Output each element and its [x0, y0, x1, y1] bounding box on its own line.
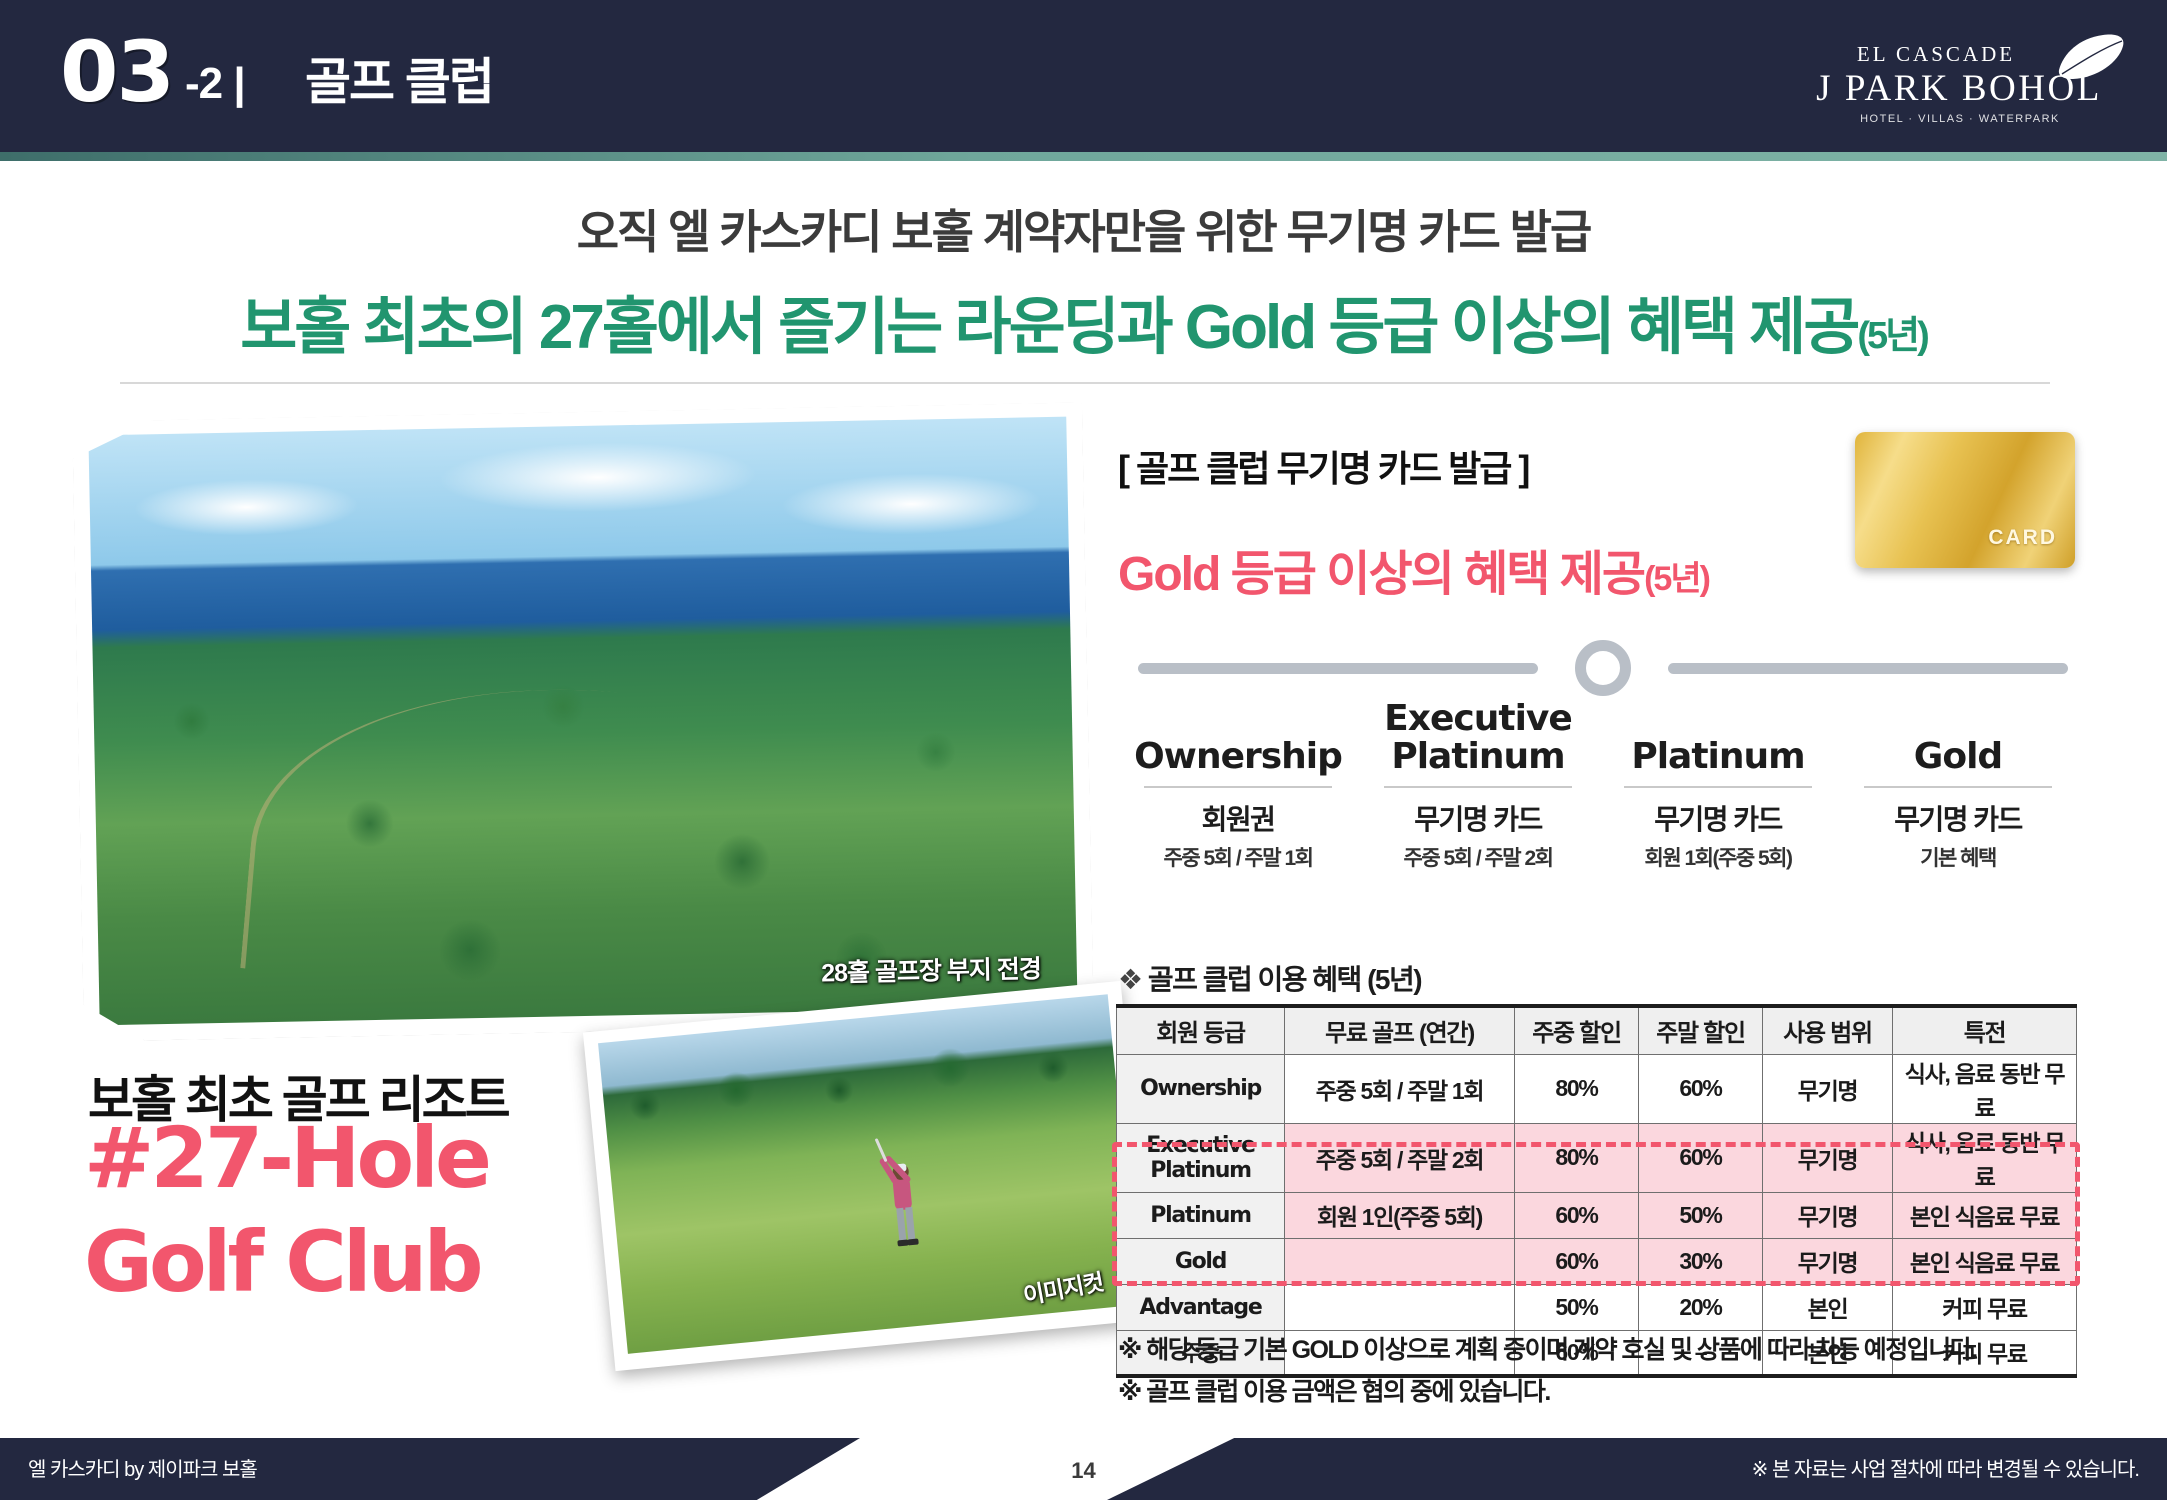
- table-cell-tier: Gold: [1117, 1238, 1285, 1284]
- tier-name: ExecutivePlatinum: [1358, 700, 1598, 776]
- column-header: 사용 범위: [1763, 1006, 1893, 1054]
- tier-item: Gold 무기명 카드 기본 혜택: [1838, 738, 2078, 872]
- table-cell-scope: 무기명: [1763, 1192, 1893, 1238]
- leaf-mark-icon: [2053, 32, 2127, 82]
- tier-detail: 주중 5회 / 주말 2회: [1358, 842, 1598, 872]
- table-cell-weekend-discount: 60%: [1639, 1123, 1763, 1192]
- photo-treeline: [600, 1019, 1116, 1136]
- logo-tagline: HOTEL · VILLAS · WATERPARK: [1801, 114, 2131, 125]
- benefit-table-heading-text: 골프 클럽 이용 혜택 (5년): [1148, 964, 1421, 995]
- gold-benefit-headline: Gold 등급 이상의 혜택 제공(5년): [1118, 534, 1709, 604]
- table-cell-weekday-discount: 50%: [1515, 1284, 1639, 1330]
- divider-rule: [120, 382, 2050, 384]
- header-accent-bar: [0, 152, 2167, 161]
- table-cell-tier: Platinum: [1117, 1192, 1285, 1238]
- tier-item: Ownership 회원권 주중 5회 / 주말 1회: [1118, 738, 1358, 872]
- gold-benefit-main: Gold 등급 이상의 혜택 제공: [1118, 548, 1644, 601]
- table-cell-weekend-discount: 30%: [1639, 1238, 1763, 1284]
- headline-secondary-years: (5년): [1857, 315, 1926, 357]
- tier-divider-right-bar: [1668, 663, 2068, 674]
- footnote-1: ※ 해당 등급 기본 GOLD 이상으로 계획 중이며 계약 호실 및 상품에 …: [1118, 1330, 1977, 1366]
- gold-benefit-years: (5년): [1644, 560, 1709, 598]
- tier-divider: [1138, 640, 2068, 696]
- header-section-sub: -2 |: [185, 62, 245, 106]
- slide-root: 03 -2 | 골프 클럽 EL CASCADE J PARK BOHOL HO…: [0, 0, 2167, 1500]
- left-headline-golfclub: Golf Club: [84, 1222, 480, 1303]
- table-cell-weekday-discount: 80%: [1515, 1054, 1639, 1123]
- table-cell-weekend-discount: 20%: [1639, 1284, 1763, 1330]
- golfer-photo: 이미지컷: [583, 981, 1153, 1371]
- table-cell-scope: 무기명: [1763, 1054, 1893, 1123]
- column-header: 주중 할인: [1515, 1006, 1639, 1054]
- gold-card-label: CARD: [1988, 526, 2057, 550]
- table-cell-scope: 무기명: [1763, 1123, 1893, 1192]
- table-cell-weekend-discount: 60%: [1639, 1054, 1763, 1123]
- table-cell-perk: 본인 식음료 무료: [1893, 1238, 2077, 1284]
- headline-secondary-main: 보홀 최초의 27홀에서 즐기는 라운딩과 Gold 등급 이상의 혜택 제공: [240, 293, 1857, 362]
- tier-divider-ring-icon: [1575, 640, 1631, 696]
- column-header: 회원 등급: [1117, 1006, 1285, 1054]
- table-row: Executive Platinum 주중 5회 / 주말 2회 80% 60%…: [1117, 1123, 2077, 1192]
- table-cell-free-golf: [1285, 1284, 1515, 1330]
- table-cell-scope: 본인: [1763, 1284, 1893, 1330]
- tier-detail: 주중 5회 / 주말 1회: [1118, 842, 1358, 872]
- tier-underline: [1864, 786, 2051, 788]
- aerial-photo-image: [88, 417, 1077, 1026]
- table-row: Ownership 주중 5회 / 주말 1회 80% 60% 무기명 식사, …: [1117, 1054, 2077, 1123]
- tier-name: Platinum: [1598, 738, 1838, 776]
- table-cell-free-golf: 회원 1인(주중 5회): [1285, 1192, 1515, 1238]
- table-cell-weekday-discount: 60%: [1515, 1238, 1639, 1284]
- table-cell-perk: 커피 무료: [1893, 1284, 2077, 1330]
- table-cell-tier: Advantage: [1117, 1284, 1285, 1330]
- footnote-2: ※ 골프 클럽 이용 금액은 협의 중에 있습니다.: [1118, 1372, 1550, 1408]
- tier-item: Platinum 무기명 카드 회원 1회(주중 5회): [1598, 738, 1838, 872]
- tier-underline: [1624, 786, 1811, 788]
- table-cell-perk: 본인 식음료 무료: [1893, 1192, 2077, 1238]
- headline-secondary: 보홀 최초의 27홀에서 즐기는 라운딩과 Gold 등급 이상의 혜택 제공(…: [0, 276, 2167, 366]
- tier-underline: [1384, 786, 1571, 788]
- table-cell-weekday-discount: 80%: [1515, 1123, 1639, 1192]
- footer-disclaimer: ※ 본 자료는 사업 절차에 따라 변경될 수 있습니다.: [1752, 1453, 2139, 1482]
- tier-underline: [1144, 786, 1331, 788]
- photo-caption-main: 28홀 골프장 부지 전경: [821, 949, 1041, 989]
- membership-tier-list: Ownership 회원권 주중 5회 / 주말 1회 ExecutivePla…: [1118, 712, 2078, 872]
- table-row: Advantage 50% 20% 본인 커피 무료: [1117, 1284, 2077, 1330]
- brand-logo: EL CASCADE J PARK BOHOL HOTEL · VILLAS ·…: [1801, 26, 2131, 128]
- page-title: 골프 클럽: [305, 57, 493, 107]
- table-cell-tier: Ownership: [1117, 1054, 1285, 1123]
- photo-clouds: [88, 417, 1068, 571]
- table-cell-weekend-discount: 50%: [1639, 1192, 1763, 1238]
- table-cell-perk: 식사, 음료 동반 무료: [1893, 1123, 2077, 1192]
- tier-detail: 기본 혜택: [1838, 842, 2078, 872]
- tier-name: Gold: [1838, 738, 2078, 776]
- tier-name: Ownership: [1118, 738, 1358, 776]
- left-headline-27hole: #27-Hole: [84, 1118, 488, 1199]
- benefit-table-heading: ❖ 골프 클럽 이용 혜택 (5년): [1118, 958, 1421, 998]
- table-row: Gold 60% 30% 무기명 본인 식음료 무료: [1117, 1238, 2077, 1284]
- table-cell-scope: 무기명: [1763, 1238, 1893, 1284]
- table-cell-free-golf: 주중 5회 / 주말 2회: [1285, 1123, 1515, 1192]
- tier-divider-left-bar: [1138, 663, 1538, 674]
- golfer-figure-icon: [874, 1132, 929, 1252]
- benefit-table: 회원 등급 무료 골프 (연간) 주중 할인 주말 할인 사용 범위 특전 Ow…: [1116, 1004, 2077, 1378]
- table-cell-perk: 식사, 음료 동반 무료: [1893, 1054, 2077, 1123]
- column-header: 무료 골프 (연간): [1285, 1006, 1515, 1054]
- gold-card-graphic: CARD: [1855, 432, 2075, 568]
- table-cell-tier: Executive Platinum: [1117, 1123, 1285, 1192]
- right-section-title: [ 골프 클럽 무기명 카드 발급 ]: [1118, 440, 1528, 492]
- table-row: Platinum 회원 1인(주중 5회) 60% 50% 무기명 본인 식음료…: [1117, 1192, 2077, 1238]
- table-header-row: 회원 등급 무료 골프 (연간) 주중 할인 주말 할인 사용 범위 특전: [1117, 1006, 2077, 1054]
- headline-primary: 오직 엘 카스카디 보홀 계약자만을 위한 무기명 카드 발급: [0, 196, 2167, 262]
- tier-type: 무기명 카드: [1838, 798, 2078, 838]
- diamond-bullet-icon: ❖: [1118, 964, 1142, 995]
- tier-type: 무기명 카드: [1358, 798, 1598, 838]
- table-cell-free-golf: [1285, 1238, 1515, 1284]
- column-header: 주말 할인: [1639, 1006, 1763, 1054]
- header-section-number: 03: [60, 30, 173, 114]
- tier-item: ExecutivePlatinum 무기명 카드 주중 5회 / 주말 2회: [1358, 700, 1598, 872]
- tier-type: 무기명 카드: [1598, 798, 1838, 838]
- table-cell-weekday-discount: 60%: [1515, 1192, 1639, 1238]
- tier-detail: 회원 1회(주중 5회): [1598, 842, 1838, 872]
- column-header: 특전: [1893, 1006, 2077, 1054]
- table-cell-free-golf: 주중 5회 / 주말 1회: [1285, 1054, 1515, 1123]
- aerial-golf-site-photo: 28홀 골프장 부지 전경: [72, 402, 1094, 1041]
- tier-type: 회원권: [1118, 798, 1358, 838]
